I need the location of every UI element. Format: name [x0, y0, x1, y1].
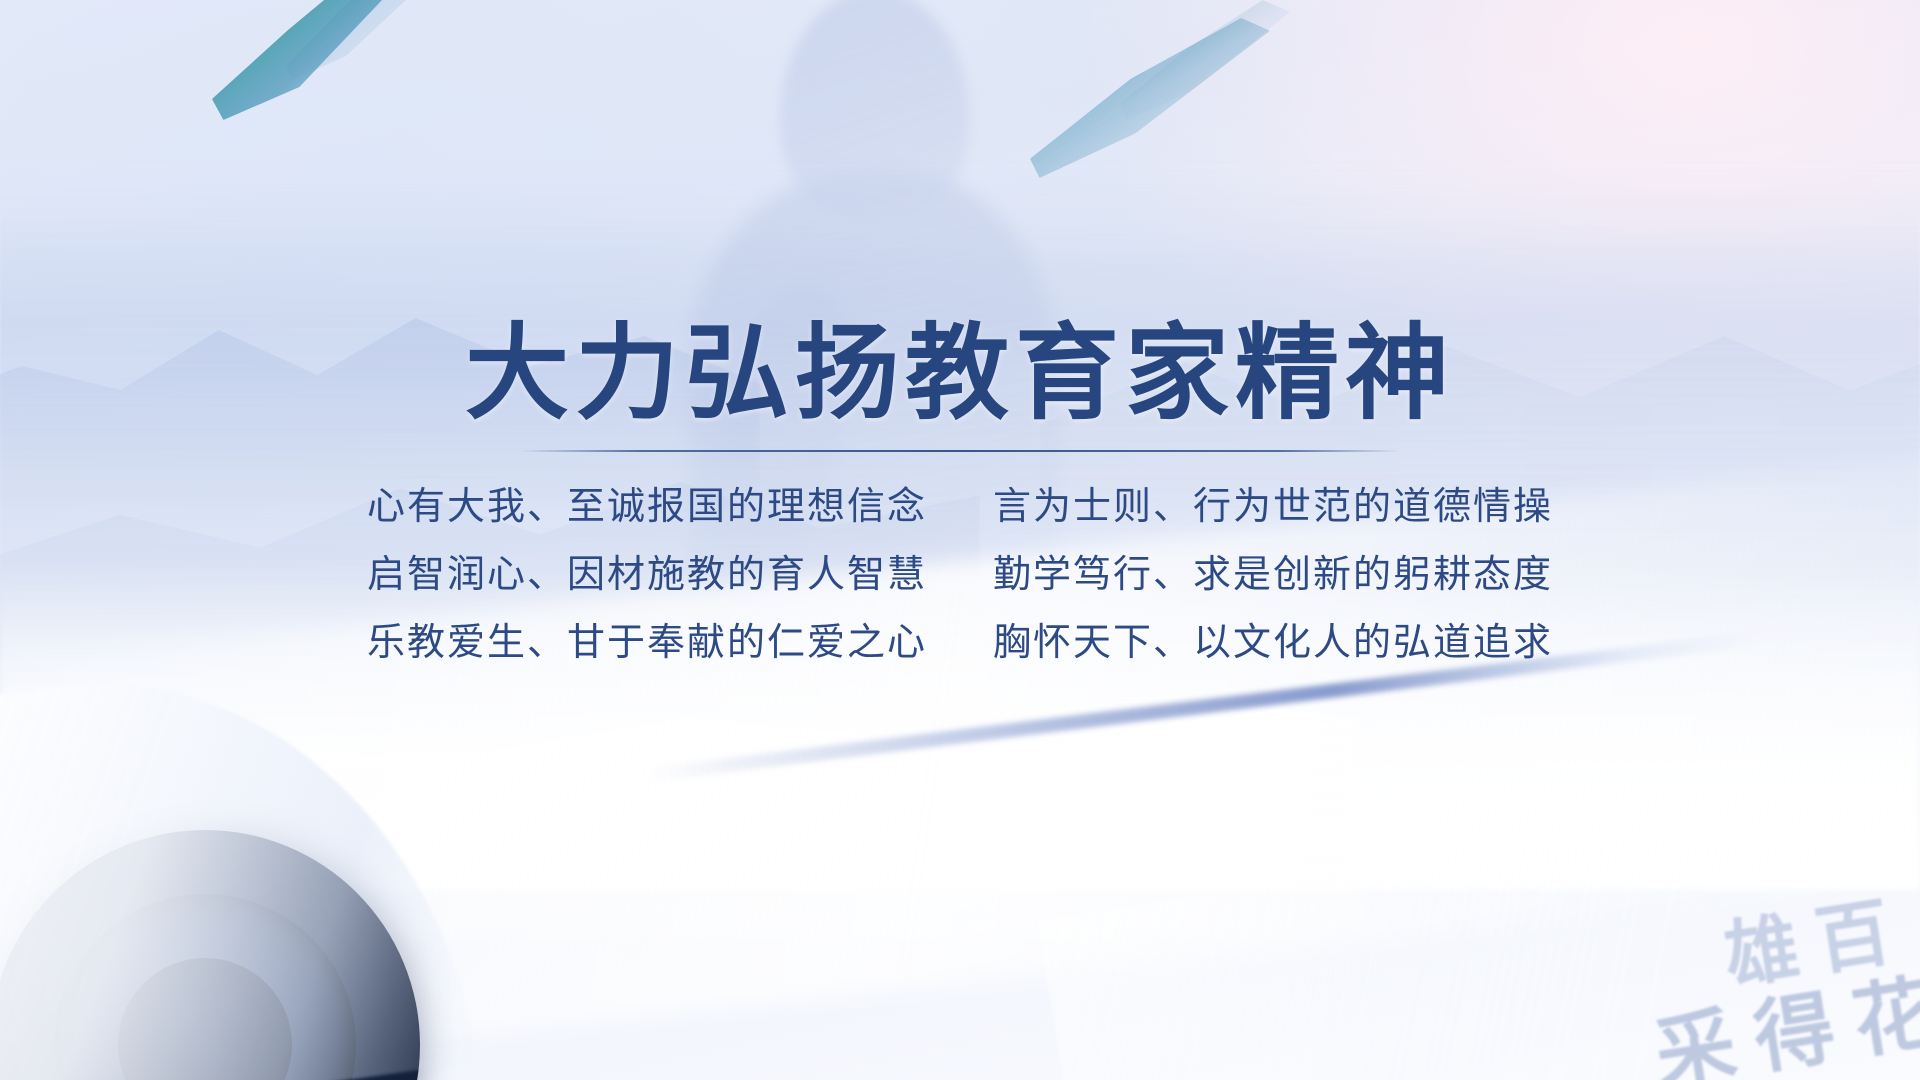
- slogan-list: 心有大我、至诚报国的理想信念 言为士则、行为世范的道德情操 启智润心、因材施教的…: [0, 486, 1920, 665]
- calligraphy-line: 为 谁 造: [1350, 1061, 1667, 1080]
- banner-stage: 雄 百 采 得 花 为 谁 造 采 为 大力弘扬教育家精神 心有大我、至诚报国的…: [0, 0, 1920, 1080]
- title-divider: [520, 450, 1400, 452]
- banner-content: 大力弘扬教育家精神 心有大我、至诚报国的理想信念 言为士则、行为世范的道德情操 …: [0, 0, 1920, 665]
- slogan-text: 勤学笃行、求是创新的躬耕态度: [993, 554, 1553, 598]
- slogan-text: 胸怀天下、以文化人的弘道追求: [993, 622, 1553, 666]
- slogan-row: 心有大我、至诚报国的理想信念 言为士则、行为世范的道德情操: [367, 486, 1553, 530]
- page-title: 大力弘扬教育家精神: [0, 318, 1920, 432]
- slogan-row: 乐教爱生、甘于奉献的仁爱之心 胸怀天下、以文化人的弘道追求: [367, 622, 1553, 666]
- slogan-text: 心有大我、至诚报国的理想信念: [367, 486, 927, 530]
- slogan-row: 启智润心、因材施教的育人智慧 勤学笃行、求是创新的躬耕态度: [367, 554, 1553, 598]
- slogan-text: 乐教爱生、甘于奉献的仁爱之心: [367, 622, 927, 666]
- slogan-text: 言为士则、行为世范的道德情操: [993, 486, 1553, 530]
- slogan-text: 启智润心、因材施教的育人智慧: [367, 554, 927, 598]
